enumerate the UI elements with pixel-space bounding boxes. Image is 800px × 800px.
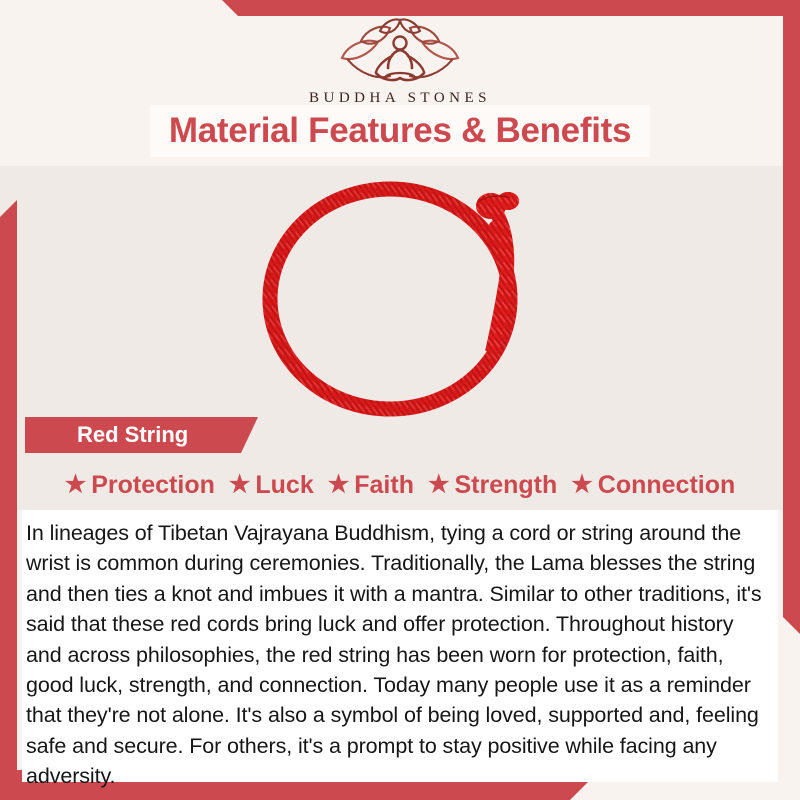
benefit-item-luck: ★ Luck: [223, 471, 320, 500]
description-text: In lineages of Tibetan Vajrayana Buddhis…: [26, 518, 774, 792]
star-icon: ★: [428, 473, 450, 497]
star-icon: ★: [229, 473, 251, 497]
material-features-infographic: BUDDHA STONES Material Features & Benefi…: [0, 0, 800, 800]
benefit-label: Luck: [255, 471, 313, 500]
benefit-item-connection: ★ Connection: [565, 471, 741, 500]
benefit-label: Faith: [354, 471, 414, 500]
benefits-row: ★ Protection ★ Luck ★ Faith ★ Strength ★…: [0, 466, 800, 504]
benefit-label: Protection: [91, 471, 215, 500]
benefit-item-strength: ★ Strength: [422, 471, 563, 500]
lotus-meditation-icon: [318, 16, 482, 88]
star-icon: ★: [328, 473, 350, 497]
description-block: In lineages of Tibetan Vajrayana Buddhis…: [22, 510, 778, 782]
benefit-item-faith: ★ Faith: [322, 471, 420, 500]
product-image: [0, 166, 800, 416]
red-braided-bracelet-icon: [252, 166, 548, 418]
star-icon: ★: [65, 473, 87, 497]
star-icon: ★: [571, 473, 593, 497]
benefit-label: Strength: [454, 471, 557, 500]
page-title: Material Features & Benefits: [169, 111, 631, 151]
benefit-item-protection: ★ Protection: [59, 471, 221, 500]
material-label-banner: Red String: [25, 417, 258, 453]
accent-bar-top: [222, 0, 800, 16]
brand-logo: BUDDHA STONES: [0, 16, 800, 107]
benefit-label: Connection: [598, 471, 736, 500]
title-banner: Material Features & Benefits: [150, 105, 650, 157]
material-label: Red String: [77, 422, 188, 448]
